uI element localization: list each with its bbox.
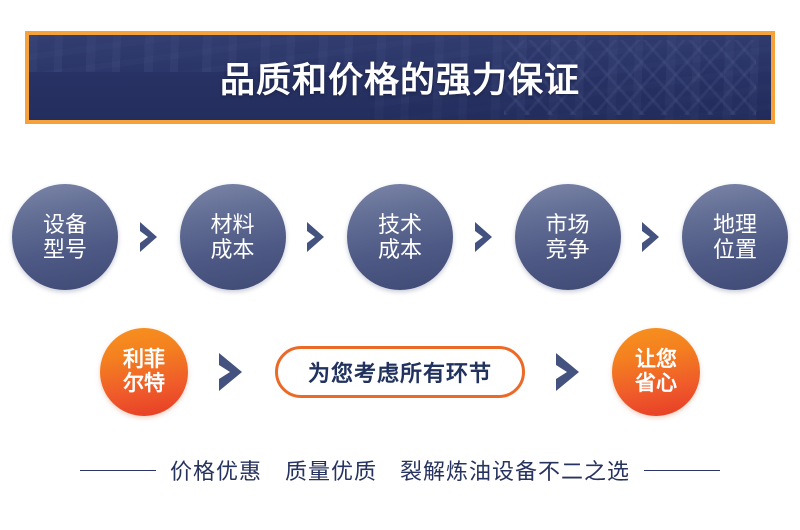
promise-pill: 为您考虑所有环节 — [275, 346, 525, 398]
step-circle-line2: 位置 — [713, 237, 757, 262]
chevron-right-icon — [214, 350, 248, 394]
benefit-circle-line2: 省心 — [635, 372, 677, 396]
step-circle-line1: 地理 — [713, 212, 757, 237]
step-circle-material-cost: 材料 成本 — [180, 184, 286, 290]
step-circle-line1: 市场 — [545, 212, 589, 237]
tagline-rule-left — [80, 470, 156, 471]
process-steps-row: 设备 型号 材料 成本 技术 成本 市场 竞争 — [12, 184, 788, 290]
chevron-right-icon — [471, 220, 497, 254]
step-circle-line1: 材料 — [210, 212, 254, 237]
step-circle-line2: 成本 — [210, 237, 254, 262]
step-circle-technology-cost: 技术 成本 — [347, 184, 453, 290]
chevron-right-icon — [136, 220, 162, 254]
step-circle-line1: 技术 — [378, 212, 422, 237]
brand-circle-line1: 利菲 — [123, 348, 165, 372]
step-circle-geographic-location: 地理 位置 — [682, 184, 788, 290]
chevron-right-icon — [638, 220, 664, 254]
step-circle-line1: 设备 — [43, 212, 87, 237]
tagline-text: 价格优惠 质量优质 裂解炼油设备不二之选 — [170, 454, 630, 486]
footer-tagline: 价格优惠 质量优质 裂解炼油设备不二之选 — [0, 452, 800, 488]
step-circle-line2: 成本 — [378, 237, 422, 262]
step-circle-market-competition: 市场 竞争 — [515, 184, 621, 290]
brand-name-circle: 利菲 尔特 — [100, 328, 188, 416]
chevron-right-icon — [303, 220, 329, 254]
step-circle-equipment-model: 设备 型号 — [12, 184, 118, 290]
banner-title: 品质和价格的强力保证 — [29, 35, 771, 120]
hero-banner: 品质和价格的强力保证 — [25, 31, 775, 124]
step-circle-line2: 型号 — [43, 237, 87, 262]
chevron-right-icon — [551, 350, 585, 394]
promo-banner-page: 品质和价格的强力保证 设备 型号 材料 成本 技术 成本 — [0, 0, 800, 530]
brand-circle-line2: 尔特 — [123, 372, 165, 396]
step-circle-line2: 竞争 — [545, 237, 589, 262]
benefit-circle-line1: 让您 — [635, 348, 677, 372]
tagline-rule-right — [644, 470, 720, 471]
benefit-circle: 让您 省心 — [612, 328, 700, 416]
brand-promise-row: 利菲 尔特 为您考虑所有环节 让您 省心 — [100, 327, 700, 417]
